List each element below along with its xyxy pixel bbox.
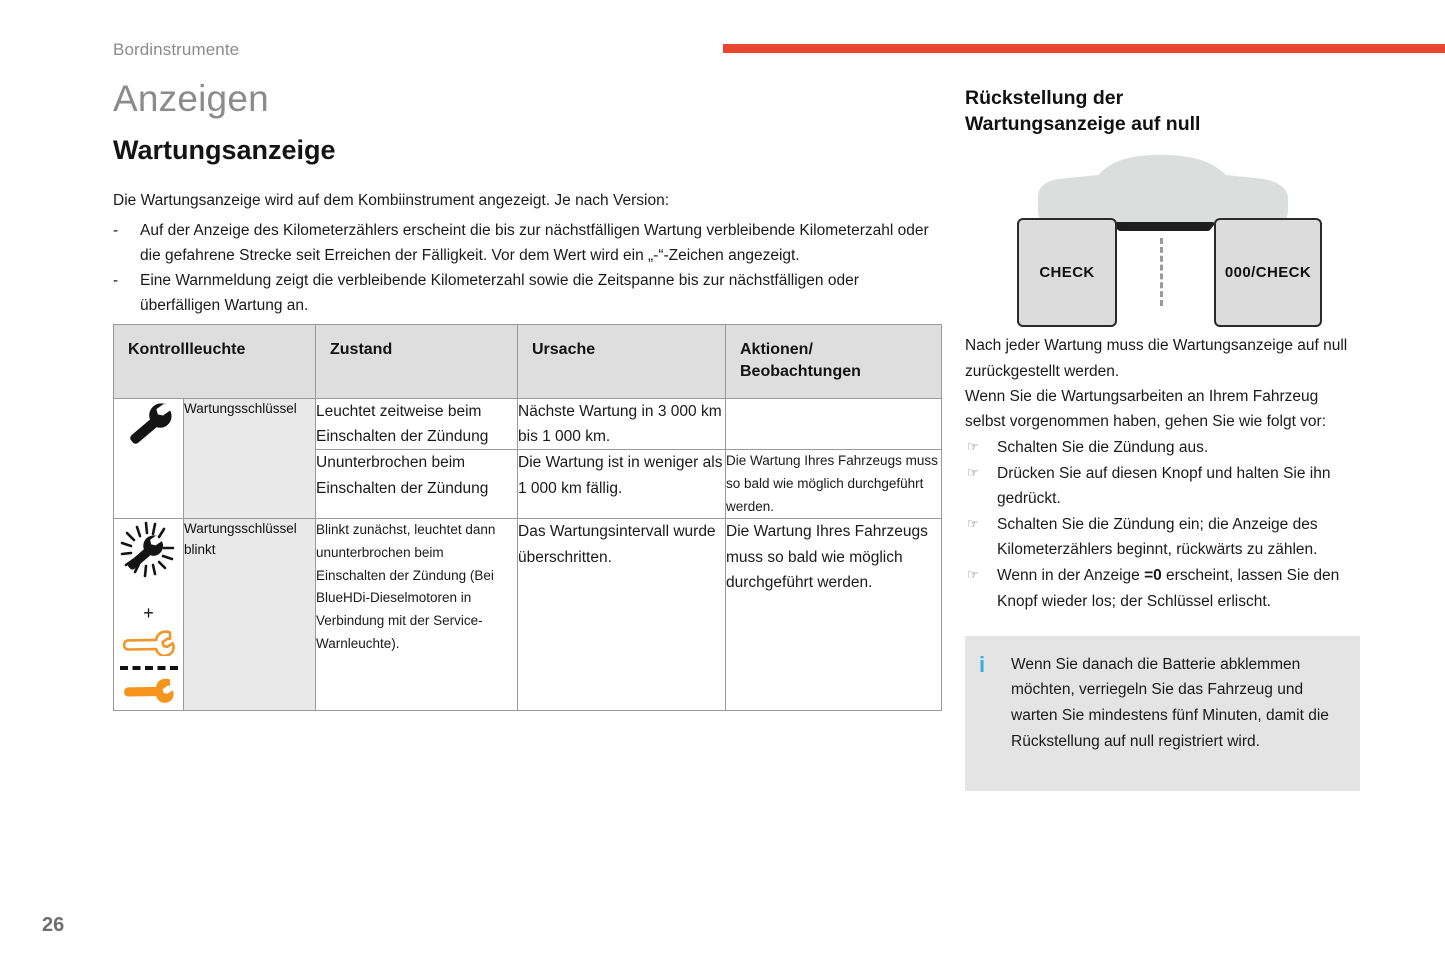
list-item-label: Auf der Anzeige des Kilometerzählers ers… — [140, 222, 929, 264]
accent-rule — [723, 44, 1445, 53]
table-header-aktionen: Aktionen/ Beobachtungen — [726, 325, 942, 399]
info-callout-box: i Wenn Sie danach die Batterie abklemmen… — [965, 636, 1360, 791]
right-column-title: Rückstellung der Wartungsanzeige auf nul… — [965, 86, 1360, 137]
dotted-divider — [1160, 238, 1163, 306]
reset-steps-list: ☞ Schalten Sie die Zündung aus. ☞ Drücke… — [965, 435, 1360, 614]
dash-bullet-icon: - — [113, 268, 118, 293]
blinking-wrench-icon-cell: + — [114, 519, 184, 711]
row-zustand-cell: Leuchtet zeitweise beim Einschalten der … — [316, 399, 518, 450]
zero-zero-zero-check-button[interactable]: 000/CHECK — [1214, 218, 1322, 327]
check-button-label: CHECK — [1039, 264, 1094, 281]
dash-bullet-icon: - — [113, 218, 118, 243]
zero-check-suffix: /CHECK — [1251, 264, 1311, 281]
list-item-label: Wenn in der Anzeige =0 erscheint, lassen… — [997, 567, 1339, 609]
right-title-line1: Rückstellung der — [965, 87, 1123, 109]
service-wrench-filled-icon — [114, 675, 183, 710]
right-paragraph-2: Wenn Sie die Wartungsarbeiten an Ihrem F… — [965, 384, 1360, 434]
intro-paragraph: Die Wartungsanzeige wird auf dem Kombiin… — [113, 188, 941, 213]
page-number: 26 — [42, 914, 64, 937]
dashed-divider — [120, 666, 178, 670]
row-zustand-cell: Blinkt zunächst, leuchtet dann ununterbr… — [316, 519, 518, 711]
blinking-wrench-icon — [114, 519, 183, 594]
list-item-label: Drücken Sie auf diesen Knopf und halten … — [997, 465, 1330, 507]
row-ursache-cell: Nächste Wartung in 3 000 km bis 1 000 km… — [518, 399, 726, 450]
list-item: ☞ Wenn in der Anzeige =0 erscheint, lass… — [965, 563, 1360, 613]
list-item: ☞ Schalten Sie die Zündung ein; die Anze… — [965, 512, 1360, 562]
info-callout-text: Wenn Sie danach die Batterie abklemmen m… — [1011, 652, 1342, 755]
information-icon: i — [979, 654, 986, 676]
row-aktionen-cell: Die Wartung Ihres Fahrzeugs muss so bald… — [726, 450, 942, 519]
pointing-hand-icon: ☞ — [967, 513, 979, 534]
table-header-aktionen-line1: Aktionen/ — [740, 341, 813, 358]
step4-prefix: Wenn in der Anzeige — [997, 567, 1144, 584]
pointing-hand-icon: ☞ — [967, 462, 979, 483]
reset-illustration: CHECK 000/CHECK — [965, 153, 1360, 333]
wrench-icon — [114, 399, 183, 452]
list-item: - Auf der Anzeige des Kilometerzählers e… — [113, 218, 941, 268]
row-ursache-cell: Das Wartungsintervall wurde überschritte… — [518, 519, 726, 711]
check-button[interactable]: CHECK — [1017, 218, 1117, 327]
chapter-label: Bordinstrumente — [113, 40, 239, 60]
warning-lamp-table: Kontrollleuchte Zustand Ursache Aktionen… — [113, 324, 942, 711]
table-header-zustand: Zustand — [316, 325, 518, 399]
lamp-name-cell: Wartungsschlüssel blinkt — [184, 519, 316, 711]
row-ursache-cell: Die Wartung ist in weniger als 1 000 km … — [518, 450, 726, 519]
row-zustand-cell: Ununterbrochen beim Einschalten der Zünd… — [316, 450, 518, 519]
list-item: - Eine Warnmeldung zeigt die verbleibend… — [113, 268, 941, 318]
service-wrench-outline-icon — [114, 628, 183, 661]
plus-sign: + — [114, 604, 183, 622]
left-column: Anzeigen Wartungsanzeige Die Wartungsanz… — [113, 78, 941, 318]
table-header-row: Kontrollleuchte Zustand Ursache Aktionen… — [114, 325, 942, 399]
table-row: + Wartungsschlüssel blinkt Blinkt zunäch… — [114, 519, 942, 711]
list-item-label: Schalten Sie die Zündung ein; die Anzeig… — [997, 516, 1318, 558]
pointing-hand-icon: ☞ — [967, 436, 979, 457]
section-subtitle: Wartungsanzeige — [113, 135, 941, 166]
lamp-name-cell: Wartungsschlüssel — [184, 399, 316, 519]
right-column: Rückstellung der Wartungsanzeige auf nul… — [965, 86, 1360, 791]
list-item-label: Eine Warnmeldung zeigt die verbleibende … — [140, 272, 859, 314]
zero-check-prefix: 000 — [1225, 264, 1251, 281]
list-item-label: Schalten Sie die Zündung aus. — [997, 439, 1208, 456]
pointing-hand-icon: ☞ — [967, 564, 979, 585]
table-header-ursache: Ursache — [518, 325, 726, 399]
table-header-kontrollleuchte: Kontrollleuchte — [114, 325, 316, 399]
list-item: ☞ Schalten Sie die Zündung aus. — [965, 435, 1360, 460]
step4-bold-value: =0 — [1144, 567, 1162, 584]
list-item: ☞ Drücken Sie auf diesen Knopf und halte… — [965, 461, 1360, 511]
zero-check-button-label: 000/CHECK — [1225, 264, 1311, 281]
row-aktionen-cell — [726, 399, 942, 450]
right-title-line2: Wartungsanzeige auf null — [965, 113, 1200, 135]
table-row: Wartungsschlüssel Leuchtet zeitweise bei… — [114, 399, 942, 450]
button-comparison-row: CHECK 000/CHECK — [965, 218, 1360, 326]
page-title: Anzeigen — [113, 78, 941, 119]
table-header-aktionen-line2: Beobachtungen — [740, 363, 861, 380]
intro-bullet-list: - Auf der Anzeige des Kilometerzählers e… — [113, 218, 941, 318]
row-aktionen-cell: Die Wartung Ihres Fahrzeugs muss so bald… — [726, 519, 942, 711]
wrench-icon-cell — [114, 399, 184, 519]
right-paragraph-1: Nach jeder Wartung muss die Wartungsanze… — [965, 333, 1360, 383]
